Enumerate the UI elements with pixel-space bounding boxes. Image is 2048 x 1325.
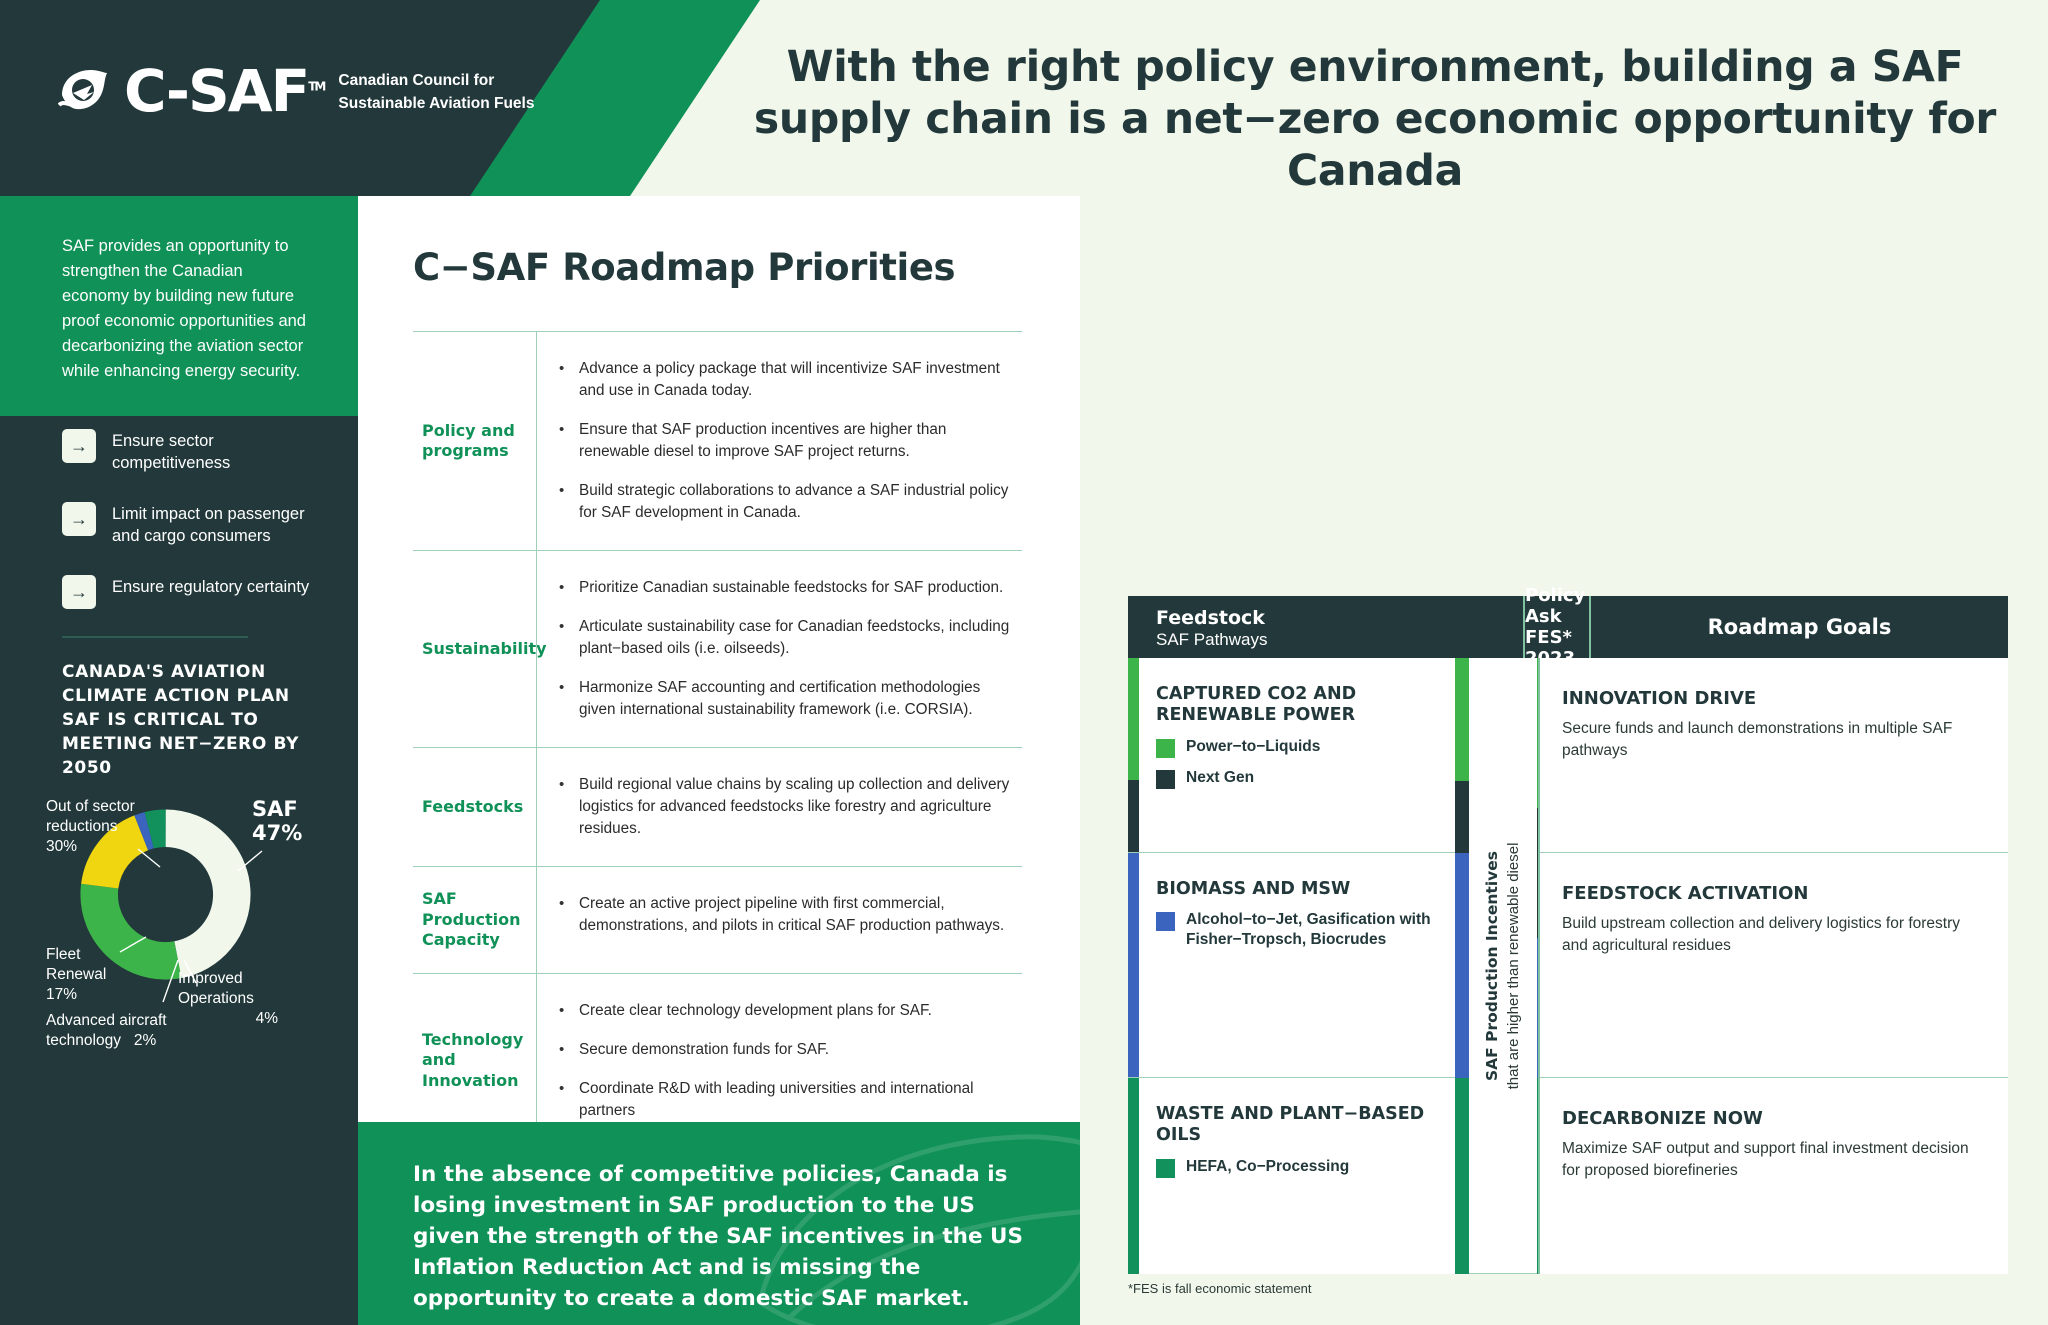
item-text: Secure demonstration funds for SAF. xyxy=(579,1039,829,1061)
feedstock-name: BIOMASS AND MSW xyxy=(1156,879,1441,900)
principle-label: Ensure regulatory certainty xyxy=(112,575,309,599)
roadmap-category: Sustainability xyxy=(413,551,536,747)
list-item: •Create clear technology development pla… xyxy=(559,1000,1018,1022)
legend-label: Power−to−Liquids xyxy=(1186,737,1320,757)
list-item: •Create an active project pipeline with … xyxy=(559,893,1018,937)
roadmap-table: Policy and programs •Advance a policy pa… xyxy=(413,331,1022,1149)
feedstock-row-biomass: BIOMASS AND MSW Alcohol−to−Jet, Gasifica… xyxy=(1128,853,1455,1078)
saf-contribution-donut: Out of sector reductions 30% SAF 47% Fle… xyxy=(0,797,358,1057)
leaf-logo-icon xyxy=(58,65,110,117)
logo-wordmark: C-SAFTM xyxy=(124,62,324,120)
feedstock-footnote: *FES is fall economic statement xyxy=(1128,1281,1312,1296)
principle-label: Ensure sector competitiveness xyxy=(112,429,318,475)
row-color-bar xyxy=(1128,658,1139,852)
list-item: •Articulate sustainability case for Cana… xyxy=(559,616,1018,660)
list-item: •Ensure that SAF production incentives a… xyxy=(559,419,1018,463)
incentives-light: that are higher than renewable diesel xyxy=(1505,843,1522,1090)
bullet-icon: • xyxy=(559,616,566,660)
list-item: •Harmonize SAF accounting and certificat… xyxy=(559,677,1018,721)
sidebar-intro-panel: SAF provides an opportunity to strengthe… xyxy=(0,196,358,416)
item-text: Ensure that SAF production incentives ar… xyxy=(579,419,1018,463)
goal-innovation-drive: INNOVATION DRIVE Secure funds and launch… xyxy=(1540,658,2008,853)
donut-leader-lines xyxy=(0,797,358,1057)
callout-text: In the absence of competitive policies, … xyxy=(358,1122,1080,1315)
goal-feedstock-activation: FEEDSTOCK ACTIVATION Build upstream coll… xyxy=(1540,853,2008,1078)
row-color-bar xyxy=(1128,853,1139,1077)
feedstock-name: CAPTURED CO2 AND RENEWABLE POWER xyxy=(1156,684,1441,727)
goal-title: INNOVATION DRIVE xyxy=(1562,688,1986,709)
list-item: •Build regional value chains by scaling … xyxy=(559,774,1018,840)
feedstock-name: WASTE AND PLANT−BASED OILS xyxy=(1156,1104,1441,1147)
page-header: C-SAFTM Canadian Council for Sustainable… xyxy=(0,0,2048,196)
roadmap-items: •Prioritize Canadian sustainable feedsto… xyxy=(536,551,1022,747)
goal-text: Maximize SAF output and support final in… xyxy=(1562,1138,1986,1182)
logo-subtitle-line1: Canadian Council for xyxy=(338,68,534,91)
item-text: Advance a policy package that will incen… xyxy=(579,358,1018,402)
roadmap-category: Policy and programs xyxy=(413,332,536,550)
legend-item: Next Gen xyxy=(1156,768,1441,789)
stripe-waste-oils xyxy=(1455,1078,1469,1274)
feedstock-pathways-table: Feedstock SAF Pathways Policy Ask FES* 2… xyxy=(1128,596,2008,1274)
item-text: Coordinate R&D with leading universities… xyxy=(579,1078,1018,1122)
principle-item: → Ensure sector competitiveness xyxy=(62,429,318,475)
bullet-icon: • xyxy=(559,358,566,402)
swatch-alcohol-to-jet xyxy=(1156,912,1175,931)
list-item: •Coordinate R&D with leading universitie… xyxy=(559,1078,1018,1122)
feedstock-row-waste-oils: WASTE AND PLANT−BASED OILS HEFA, Co−Proc… xyxy=(1128,1078,1455,1274)
item-text: Create clear technology development plan… xyxy=(579,1000,932,1022)
sidebar-intro-text: SAF provides an opportunity to strengthe… xyxy=(0,196,358,384)
table-row: SAF Production Capacity •Create an activ… xyxy=(413,866,1022,972)
goal-decarbonize-now: DECARBONIZE NOW Maximize SAF output and … xyxy=(1540,1078,2008,1274)
vertical-label-incentives: SAF Production Incentives that are highe… xyxy=(1469,658,1537,1274)
bullet-icon: • xyxy=(559,893,566,937)
bullet-icon: • xyxy=(559,774,566,840)
item-text: Prioritize Canadian sustainable feedstoc… xyxy=(579,577,1003,599)
bullet-icon: • xyxy=(559,1039,566,1061)
table-row: Policy and programs •Advance a policy pa… xyxy=(413,331,1022,550)
swatch-next-gen xyxy=(1156,770,1175,789)
roadmap-goals-column: INNOVATION DRIVE Secure funds and launch… xyxy=(1538,658,2008,1274)
bullet-icon: • xyxy=(559,1000,566,1022)
item-text: Build regional value chains by scaling u… xyxy=(579,774,1018,840)
list-item: •Secure demonstration funds for SAF. xyxy=(559,1039,1018,1061)
roadmap-items: •Advance a policy package that will ince… xyxy=(536,332,1022,550)
principle-item: → Limit impact on passenger and cargo co… xyxy=(62,502,318,548)
legend-item: Power−to−Liquids xyxy=(1156,737,1441,758)
goal-title: FEEDSTOCK ACTIVATION xyxy=(1562,883,1986,904)
table-row: Feedstocks •Build regional value chains … xyxy=(413,747,1022,866)
table-row: Sustainability •Prioritize Canadian sust… xyxy=(413,550,1022,747)
item-text: Harmonize SAF accounting and certificati… xyxy=(579,677,1018,721)
legend-item: Alcohol−to−Jet, Gasification with Fisher… xyxy=(1156,910,1441,950)
goal-text: Build upstream collection and delivery l… xyxy=(1562,913,1986,957)
swatch-power-to-liquids xyxy=(1156,739,1175,758)
bullet-icon: • xyxy=(559,677,566,721)
principle-label: Limit impact on passenger and cargo cons… xyxy=(112,502,318,548)
legend-label: HEFA, Co−Processing xyxy=(1186,1157,1349,1177)
policy-ask-col-header: Policy Ask FES* 2023 xyxy=(1525,596,1589,658)
arrow-right-icon: → xyxy=(62,502,96,536)
item-text: Build strategic collaborations to advanc… xyxy=(579,480,1018,524)
bullet-icon: • xyxy=(559,419,566,463)
incentives-bold: SAF Production Incentives xyxy=(1483,851,1501,1081)
feedstock-table-body: CAPTURED CO2 AND RENEWABLE POWER Power−t… xyxy=(1128,658,2008,1274)
list-item: •Advance a policy package that will ince… xyxy=(559,358,1018,402)
goal-text: Secure funds and launch demonstrations i… xyxy=(1562,718,1986,762)
legend-label: Alcohol−to−Jet, Gasification with Fisher… xyxy=(1186,910,1441,950)
logo-subtitle-line2: Sustainable Aviation Fuels xyxy=(338,91,534,114)
feedstock-table-header: Feedstock SAF Pathways Policy Ask FES* 2… xyxy=(1128,596,2008,658)
roadmap-items: •Build regional value chains by scaling … xyxy=(536,748,1022,866)
item-text: Create an active project pipeline with f… xyxy=(579,893,1018,937)
page-title: With the right policy environment, build… xyxy=(730,42,2020,196)
bullet-icon: • xyxy=(559,577,566,599)
infographic-page: C-SAFTM Canadian Council for Sustainable… xyxy=(0,0,2048,1325)
item-text: Articulate sustainability case for Canad… xyxy=(579,616,1018,660)
roadmap-category: Feedstocks xyxy=(413,748,536,866)
trademark-symbol: TM xyxy=(308,80,324,94)
feedstock-row-captured-co2: CAPTURED CO2 AND RENEWABLE POWER Power−t… xyxy=(1128,658,1455,853)
list-item: •Build strategic collaborations to advan… xyxy=(559,480,1018,524)
callout-banner: In the absence of competitive policies, … xyxy=(358,1122,1080,1325)
csaf-logo: C-SAFTM Canadian Council for Sustainable… xyxy=(58,62,534,120)
climate-plan-heading: CANADA'S AVIATION CLIMATE ACTION PLAN SA… xyxy=(0,638,358,781)
flight-plan-panel: A flight plan for SAF: Building a feedst… xyxy=(1080,196,2048,1325)
roadmap-items: •Create an active project pipeline with … xyxy=(536,867,1022,972)
bullet-icon: • xyxy=(559,1078,566,1122)
roadmap-goals-col-header: Roadmap Goals xyxy=(1589,596,2008,658)
stripe-biomass xyxy=(1455,853,1469,1078)
roadmap-title: C−SAF Roadmap Priorities xyxy=(358,196,1080,289)
feedstock-col-header: Feedstock SAF Pathways xyxy=(1128,596,1455,658)
bullet-icon: • xyxy=(559,480,566,524)
roadmap-category: SAF Production Capacity xyxy=(413,867,536,972)
feedstock-header-title: Feedstock xyxy=(1156,608,1455,630)
arrow-right-icon: → xyxy=(62,429,96,463)
legend-label: Next Gen xyxy=(1186,768,1254,788)
saf-production-incentives-column: SAF Production Incentives that are highe… xyxy=(1469,658,1537,1274)
swatch-hefa xyxy=(1156,1159,1175,1178)
stripe-captured-co2 xyxy=(1455,658,1469,853)
feedstock-header-sub: SAF Pathways xyxy=(1156,630,1455,650)
legend-item: HEFA, Co−Processing xyxy=(1156,1157,1441,1178)
feedstock-column: CAPTURED CO2 AND RENEWABLE POWER Power−t… xyxy=(1128,658,1455,1274)
principle-item: → Ensure regulatory certainty xyxy=(62,575,318,609)
row-color-bar xyxy=(1128,1078,1139,1274)
goal-title: DECARBONIZE NOW xyxy=(1562,1108,1986,1129)
list-item: •Prioritize Canadian sustainable feedsto… xyxy=(559,577,1018,599)
header-spacer xyxy=(1455,596,1523,658)
sidebar: SAF provides an opportunity to strengthe… xyxy=(0,196,358,1325)
arrow-right-icon: → xyxy=(62,575,96,609)
